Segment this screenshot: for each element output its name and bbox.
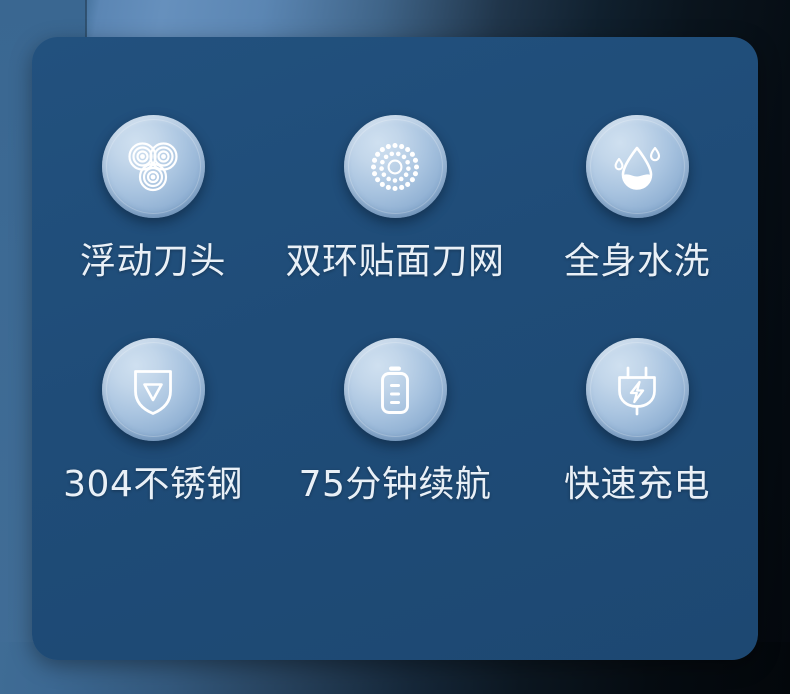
battery-icon xyxy=(364,359,426,421)
feature-icon-bubble xyxy=(344,115,447,218)
feature-label: 304不锈钢 xyxy=(63,467,243,503)
feature-icon-bubble xyxy=(344,338,447,441)
product-feature-panel: 浮动刀头 双环贴面刀网 xyxy=(0,0,790,694)
triple-shaver-head-icon xyxy=(122,136,184,198)
feature-icon-bubble xyxy=(102,338,205,441)
feature-item-battery-life[interactable]: 75分钟续航 xyxy=(274,338,516,503)
feature-icon-bubble xyxy=(586,338,689,441)
feature-label: 全身水洗 xyxy=(564,244,710,280)
feature-item-fast-charge[interactable]: 快速充电 xyxy=(516,338,758,503)
power-plug-bolt-icon xyxy=(606,359,668,421)
water-droplet-icon xyxy=(606,136,668,198)
shield-icon xyxy=(122,359,184,421)
feature-label: 双环贴面刀网 xyxy=(285,244,504,280)
feature-item-dual-ring-foil[interactable]: 双环贴面刀网 xyxy=(274,115,516,280)
feature-card: 浮动刀头 双环贴面刀网 xyxy=(32,37,758,660)
feature-item-floating-head[interactable]: 浮动刀头 xyxy=(32,115,274,280)
feature-label: 快速充电 xyxy=(564,467,710,503)
feature-label: 浮动刀头 xyxy=(80,244,226,280)
feature-item-stainless-steel[interactable]: 304不锈钢 xyxy=(32,338,274,503)
feature-label: 75分钟续航 xyxy=(299,467,492,503)
feature-grid: 浮动刀头 双环贴面刀网 xyxy=(32,115,758,503)
feature-icon-bubble xyxy=(586,115,689,218)
dual-ring-foil-icon xyxy=(364,136,426,198)
feature-item-washable[interactable]: 全身水洗 xyxy=(516,115,758,280)
feature-icon-bubble xyxy=(102,115,205,218)
